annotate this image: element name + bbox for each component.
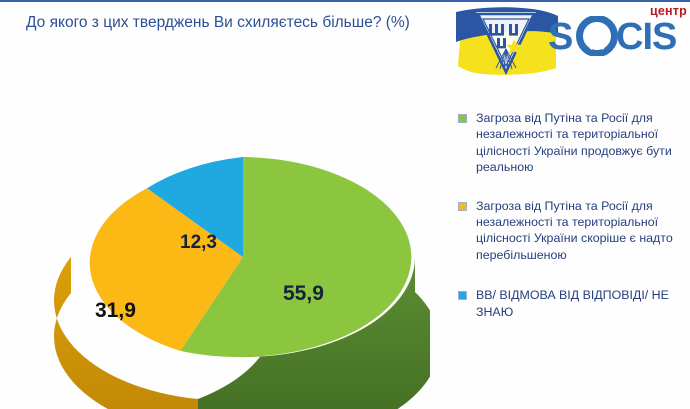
socis-logo[interactable]: S CIS центр <box>452 2 690 78</box>
legend-swatch-green-icon <box>458 114 467 123</box>
legend-label-green: Загроза від Путіна та Росії для незалежн… <box>476 110 690 176</box>
page-title: До якого з цих тверджень Ви схиляєтесь б… <box>26 12 426 33</box>
slide-root: До якого з цих тверджень Ви схиляєтесь б… <box>0 0 690 409</box>
pie-label-green: 55,9 <box>283 282 324 306</box>
legend-label-blue: ВВ/ ВІДМОВА ВІД ВІДПОВІДІ/ НЕ ЗНАЮ <box>476 287 690 320</box>
socis-triangle-emblem <box>452 4 560 76</box>
legend-item-orange[interactable]: Загроза від Путіна та Росії для незалежн… <box>458 198 690 264</box>
legend-item-blue[interactable]: ВВ/ ВІДМОВА ВІД ВІДПОВІДІ/ НЕ ЗНАЮ <box>458 287 690 320</box>
chart-legend: Загроза від Путіна та Росії для незалежн… <box>458 110 690 336</box>
socis-wordmark: S CIS <box>548 16 690 56</box>
svg-text:CIS: CIS <box>616 16 676 56</box>
pie-label-blue: 12,3 <box>180 232 217 254</box>
pie-chart: 55,9 31,9 12,3 <box>0 80 430 409</box>
svg-text:S: S <box>548 16 572 56</box>
legend-swatch-orange-icon <box>458 202 467 211</box>
legend-item-green[interactable]: Загроза від Путіна та Росії для незалежн… <box>458 110 690 176</box>
pie-canvas: 55,9 31,9 12,3 <box>0 80 430 409</box>
slide-header: До якого з цих тверджень Ви схиляєтесь б… <box>0 2 690 80</box>
legend-swatch-blue-icon <box>458 291 467 300</box>
legend-label-orange: Загроза від Путіна та Росії для незалежн… <box>476 198 690 264</box>
pie-label-orange: 31,9 <box>95 299 136 323</box>
logo-subtitle: центр <box>650 4 687 18</box>
